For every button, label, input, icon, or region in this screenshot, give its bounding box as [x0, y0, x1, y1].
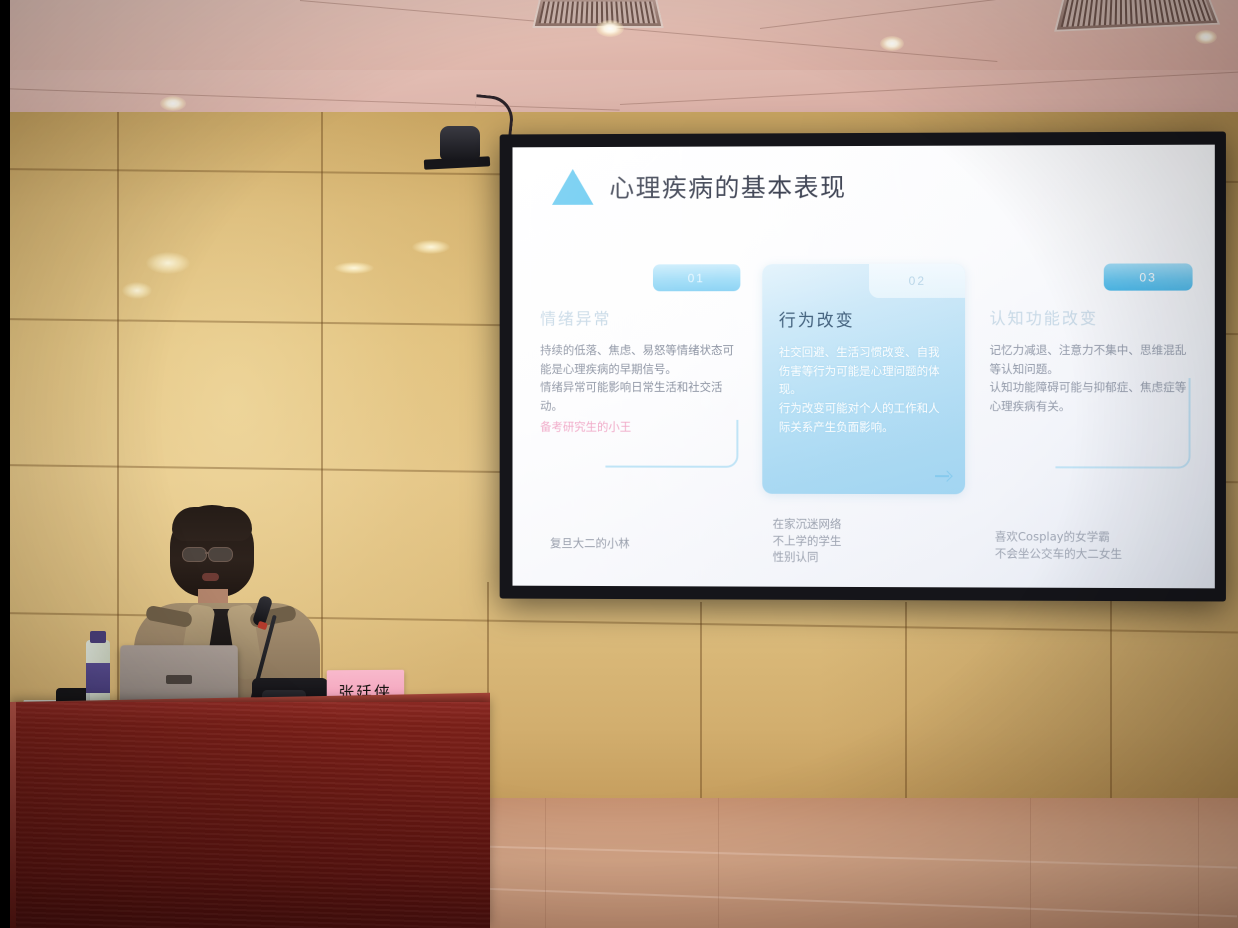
- wall-light-reflection: [334, 262, 374, 274]
- slide-card-3: 03 认知功能改变 记忆力减退、注意力不集中、思维混乱等认知问题。 认知功能障碍…: [987, 263, 1192, 464]
- wall-light-reflection: [122, 282, 152, 299]
- slide-card-2: 02 行为改变 社交回避、生活习惯改变、自我伤害等行为可能是心理问题的体现。 行…: [762, 264, 965, 495]
- ceiling-light: [596, 20, 624, 37]
- card-heading: 情绪异常: [540, 305, 740, 329]
- eyeglasses-icon: [208, 547, 233, 562]
- ceiling-light: [880, 36, 904, 51]
- wall-light-reflection: [146, 252, 190, 274]
- card-body-text: 持续的低落、焦虑、易怒等情绪状态可能是心理疾病的早期信号。 情绪异常可能影响日常…: [540, 341, 740, 415]
- card-number-badge: 03: [1104, 263, 1193, 290]
- ceiling-air-vent-2: [1054, 0, 1220, 32]
- ceiling-light: [1195, 30, 1217, 44]
- card-number-badge: 01: [653, 264, 740, 291]
- image-left-border: [0, 0, 10, 928]
- annotation-3: 喜欢Cosplay的女学霸 不会坐公交车的大二女生: [991, 516, 1193, 562]
- eyeglasses-bridge: [205, 552, 209, 554]
- laptop-logo-icon: [166, 675, 192, 684]
- lecture-hall-photo: 心理疾病的基本表现 01 情绪异常 持续的低落、焦虑、易怒等情绪状态可能是心理疾…: [0, 0, 1238, 928]
- eyeglasses-icon: [182, 547, 207, 562]
- card-number-badge: 02: [869, 264, 965, 298]
- card-corner-accent: [605, 420, 738, 468]
- annotation-2: 在家沉迷网络 不上学的学生 性别认同: [767, 516, 969, 567]
- ceiling-light: [160, 96, 186, 111]
- card-highlight-box: 02 行为改变 社交回避、生活习惯改变、自我伤害等行为可能是心理问题的体现。 行…: [762, 264, 965, 495]
- card-heading: 认知功能改变: [990, 305, 1193, 329]
- water-bottle-cap: [90, 631, 106, 643]
- presenter-mouth: [202, 573, 219, 581]
- slide-annotations: 复旦大二的小林 在家沉迷网络 不上学的学生 性别认同 喜欢Cosplay的女学霸…: [538, 515, 1192, 567]
- slide-cards: 01 情绪异常 持续的低落、焦虑、易怒等情绪状态可能是心理疾病的早期信号。 情绪…: [538, 263, 1192, 494]
- wall-light-reflection: [412, 240, 450, 254]
- projection-screen[interactable]: 心理疾病的基本表现 01 情绪异常 持续的低落、焦虑、易怒等情绪状态可能是心理疾…: [512, 145, 1214, 589]
- ceiling: [0, 0, 1238, 118]
- water-bottle-label: [86, 663, 110, 693]
- card-heading: 行为改变: [779, 306, 951, 331]
- slide-card-1: 01 情绪异常 持续的低落、焦虑、易怒等情绪状态可能是心理疾病的早期信号。 情绪…: [538, 264, 740, 464]
- arrow-right-icon: [935, 471, 951, 480]
- slide-header: 心理疾病的基本表现: [552, 167, 1189, 205]
- presentation-slide: 心理疾病的基本表现 01 情绪异常 持续的低落、焦虑、易怒等情绪状态可能是心理疾…: [512, 145, 1214, 589]
- annotation-1: 复旦大二的小林: [538, 515, 745, 552]
- projection-screen-frame: 心理疾病的基本表现 01 情绪异常 持续的低落、焦虑、易怒等情绪状态可能是心理疾…: [500, 132, 1226, 602]
- presenter-hair-front: [172, 507, 252, 541]
- wall-camera-icon: [440, 126, 480, 160]
- card-body-text: 社交回避、生活习惯改变、自我伤害等行为可能是心理问题的体现。 行为改变可能对个人…: [779, 343, 951, 436]
- podium: [10, 702, 490, 928]
- slide-title: 心理疾病的基本表现: [609, 168, 846, 205]
- podium-edge: [10, 702, 16, 928]
- triangle-icon: [552, 169, 594, 205]
- card-corner-accent: [1055, 378, 1190, 469]
